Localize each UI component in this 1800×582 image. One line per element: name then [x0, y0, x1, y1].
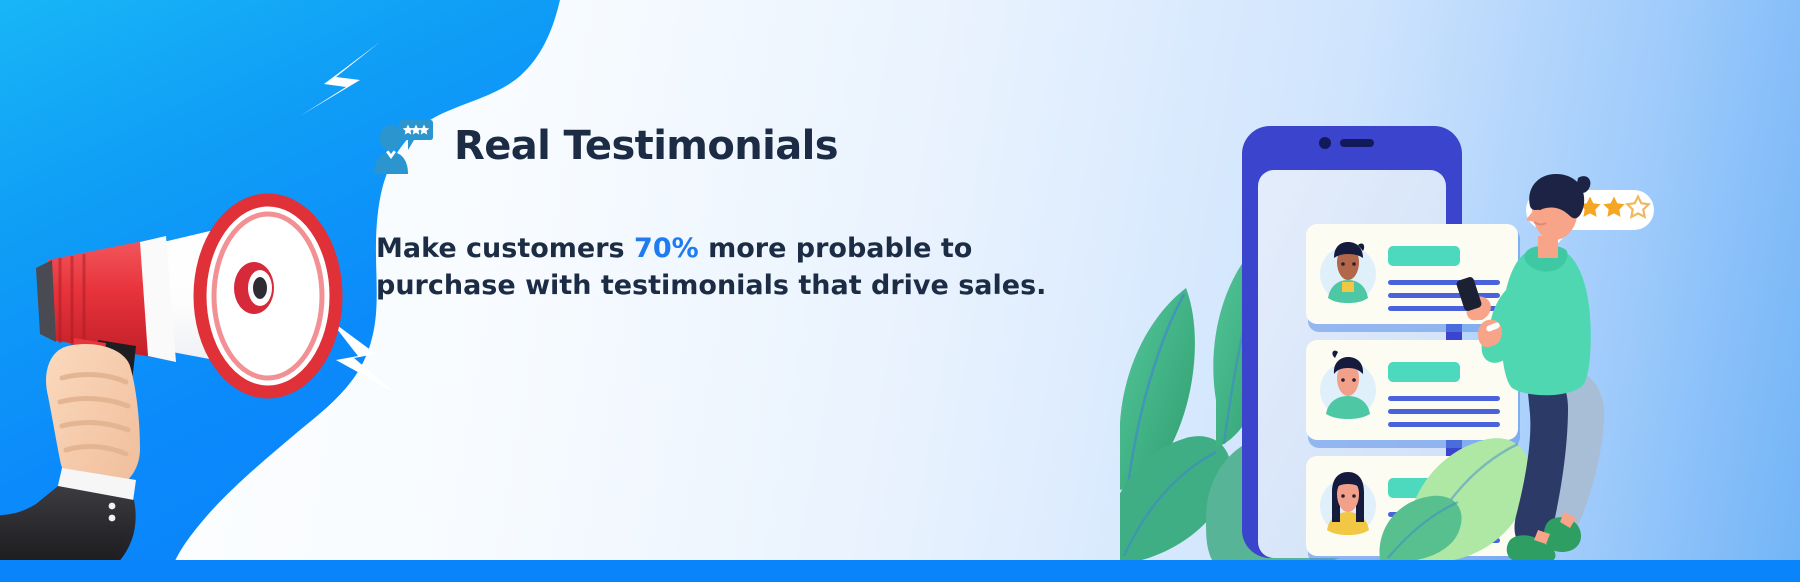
bottom-accent-strip [0, 560, 1800, 582]
megaphone-icon [0, 100, 410, 582]
subheading-highlight: 70% [634, 233, 699, 264]
person-speech-bubble-stars-icon [372, 118, 434, 174]
headline-row: Real Testimonials [372, 118, 1092, 174]
phone-testimonials-illustration [1120, 0, 1800, 582]
page-title: Real Testimonials [454, 123, 838, 169]
testimonial-card[interactable] [1306, 224, 1520, 332]
copy-block: Real Testimonials Make customers 70% mor… [372, 118, 1092, 305]
subheading-text: Make customers 70% more probable to purc… [376, 230, 1056, 305]
subheading-before: Make customers [376, 233, 634, 264]
testimonials-banner: Real Testimonials Make customers 70% mor… [0, 0, 1800, 582]
